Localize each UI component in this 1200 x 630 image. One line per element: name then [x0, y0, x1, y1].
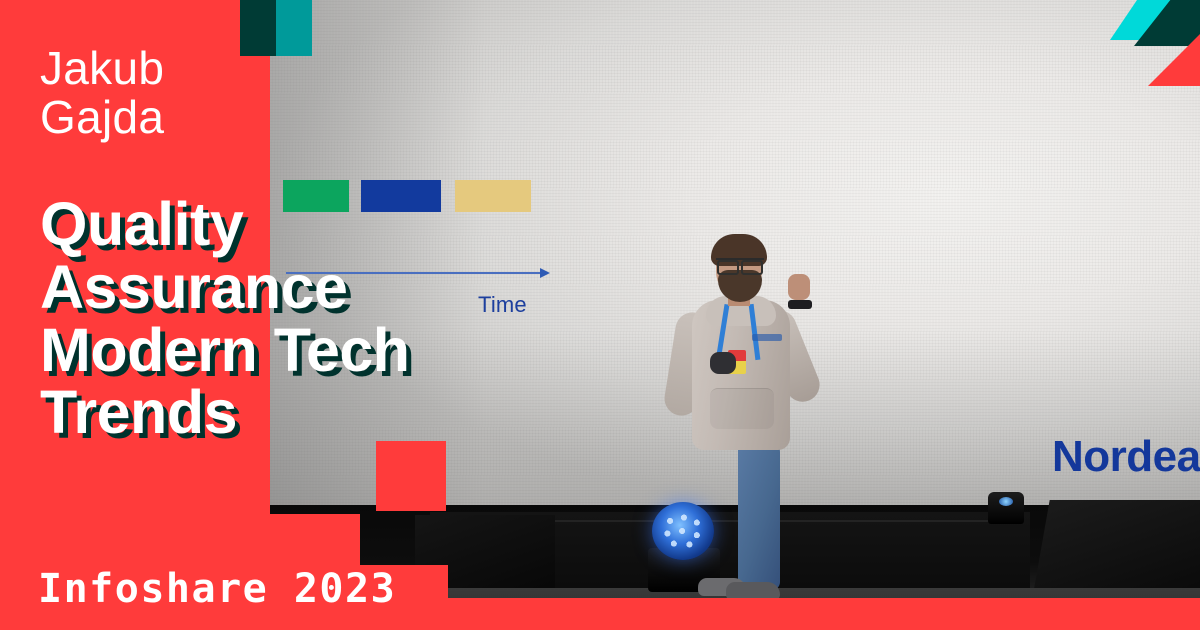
speaker-name: Jakub Gajda	[40, 44, 164, 142]
speaker-hoodie-pocket	[710, 388, 774, 429]
speaker-hand-with-clicker	[710, 352, 736, 374]
speaker-wristwatch	[788, 300, 812, 309]
slide-gold-bar	[455, 180, 531, 212]
teal-accent-block	[276, 0, 312, 56]
talk-promo-card: Time Nordea	[0, 0, 1200, 630]
speaker-leg-right	[738, 438, 780, 590]
event-name: Infoshare 2023	[38, 566, 396, 612]
speaker-raised-hand	[788, 274, 810, 300]
speaker-figure	[640, 230, 850, 630]
glasses-icon	[716, 258, 764, 271]
speaker-hoodie-logo	[752, 334, 782, 341]
time-axis-label: Time	[478, 292, 527, 318]
dark-teal-accent-block	[240, 0, 276, 56]
red-accent-square	[376, 441, 446, 511]
stage-spotlight-right	[988, 492, 1024, 524]
nordea-logo: Nordea	[1052, 432, 1200, 482]
speaker-legs	[702, 438, 784, 590]
talk-title: Quality Assurance Modern Tech Trends	[40, 193, 410, 444]
